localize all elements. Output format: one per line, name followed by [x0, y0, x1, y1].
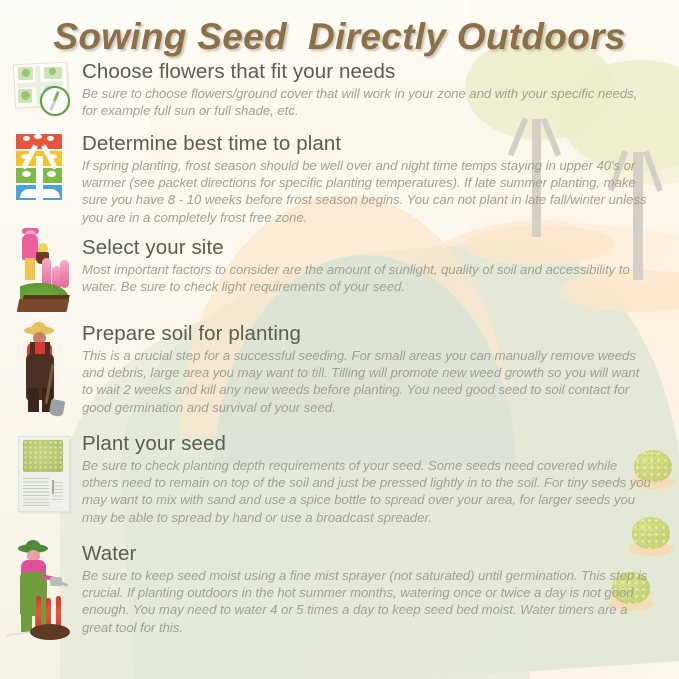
infographic-poster: Sowing Seed Directly Outdoors	[0, 0, 679, 679]
step-icon-container	[12, 230, 78, 312]
plan-tree-blob	[21, 91, 30, 100]
seed-packet-text-lines	[52, 482, 63, 502]
step-title: Prepare soil for planting	[82, 322, 653, 346]
seasons-tree-leaf	[47, 136, 54, 141]
poster-title: Sowing Seed Directly Outdoors	[0, 16, 679, 58]
watering-gardener-icon	[6, 544, 68, 640]
step-item-prepare-soil: Prepare soil for planting This is a cruc…	[0, 322, 679, 432]
gardener-leg	[28, 388, 39, 412]
planting-flowers-icon	[12, 230, 74, 312]
seasons-snow-drift	[20, 189, 60, 198]
seasons-tree-leaf	[23, 136, 30, 141]
step-icon-container	[12, 132, 78, 204]
step-body: Choose flowers that fit your needs Be su…	[82, 60, 679, 119]
seasons-tree-leaf	[48, 154, 57, 159]
step-title: Determine best time to plant	[82, 132, 653, 156]
step-text: This is a crucial step for a successful …	[82, 347, 653, 417]
seasons-tree-leaf	[34, 134, 42, 139]
step-body: Plant your seed Be sure to check plantin…	[82, 432, 679, 526]
seed-packet-text-lines	[23, 478, 49, 506]
step-item-determine-time: Determine best time to plant If spring p…	[0, 132, 679, 236]
compass-icon	[40, 86, 70, 116]
step-title: Choose flowers that fit your needs	[82, 60, 653, 84]
gardener-legs	[25, 258, 35, 280]
four-seasons-tree-icon	[12, 132, 74, 204]
step-item-plant-seed: Plant your seed Be sure to check plantin…	[0, 432, 679, 542]
step-body: Determine best time to plant If spring p…	[82, 132, 679, 226]
step-text: Most important factors to consider are t…	[82, 261, 653, 296]
step-text: Be sure to keep seed moist using a fine …	[82, 567, 653, 637]
gardener-with-shovel-icon	[12, 324, 74, 420]
step-body: Prepare soil for planting This is a cruc…	[82, 322, 679, 416]
seasons-tree-leaf	[22, 171, 31, 177]
seed-packet-photo-texture	[23, 440, 63, 472]
soil-mound	[30, 624, 70, 640]
step-text: Be sure to choose flowers/ground cover t…	[82, 85, 653, 120]
planter-box	[17, 299, 70, 312]
shovel-blade	[49, 399, 66, 417]
step-title: Water	[82, 542, 653, 566]
step-icon-container	[6, 544, 72, 640]
step-text: Be sure to check planting depth requirem…	[82, 457, 653, 527]
step-title: Select your site	[82, 236, 653, 260]
step-icon-container	[12, 60, 78, 122]
steps-list: Choose flowers that fit your needs Be su…	[0, 60, 679, 652]
seasons-tree-leaf	[47, 171, 56, 177]
compass-needle	[49, 91, 59, 111]
step-text: If spring planting, frost season should …	[82, 157, 653, 227]
seasons-tree-leaf	[21, 154, 30, 159]
seasons-tree-overlay	[16, 134, 62, 200]
step-icon-container	[12, 434, 78, 520]
step-item-water: Water Be sure to keep seed moist using a…	[0, 542, 679, 652]
step-icon-container	[12, 324, 78, 420]
step-item-select-site: Select your site Most important factors …	[0, 236, 679, 322]
seed-packet-icon	[12, 434, 74, 520]
plan-tree-blob	[49, 68, 56, 75]
gardener-leg	[21, 606, 32, 632]
step-item-choose-flowers: Choose flowers that fit your needs Be su…	[0, 60, 679, 132]
step-body: Select your site Most important factors …	[82, 236, 679, 295]
step-body: Water Be sure to keep seed moist using a…	[82, 542, 679, 636]
step-title: Plant your seed	[82, 432, 653, 456]
plan-tree-blob	[22, 69, 30, 77]
garden-plan-compass-icon	[12, 60, 74, 122]
